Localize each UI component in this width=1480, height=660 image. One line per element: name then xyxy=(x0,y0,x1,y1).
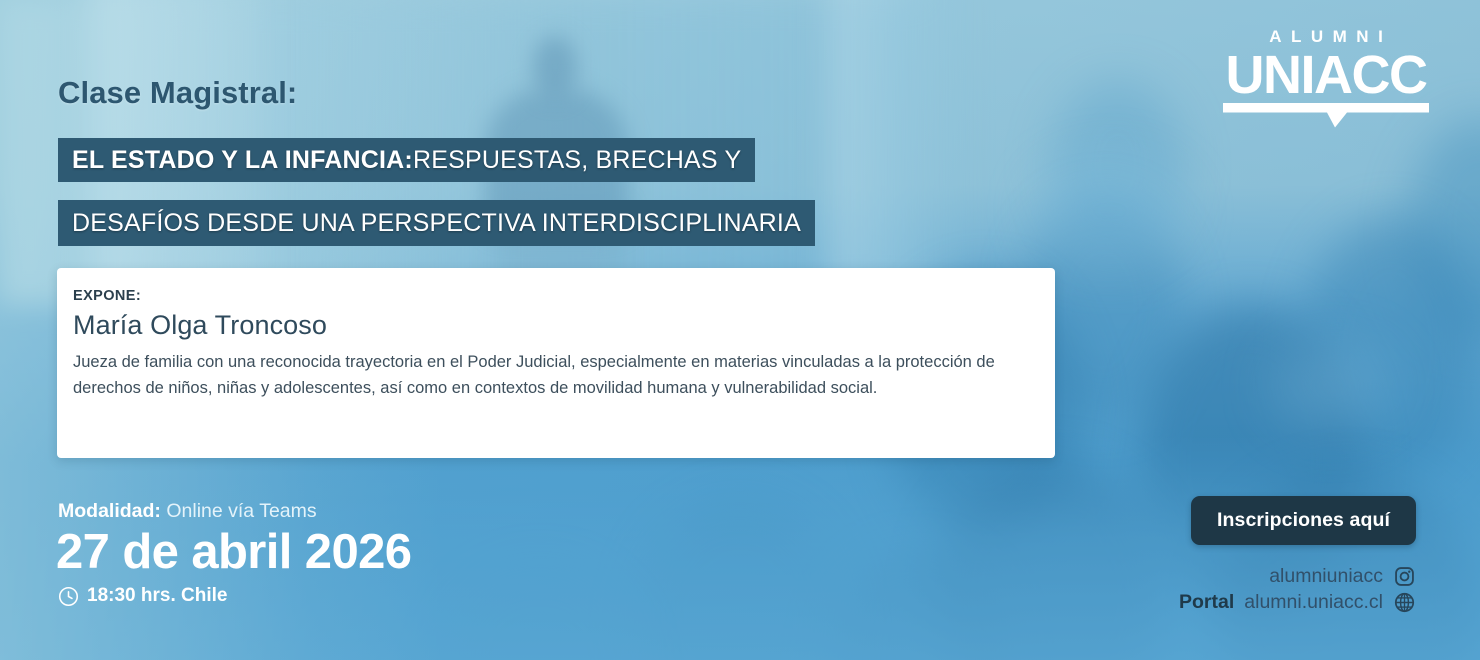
uniacc-alumni-logo: ALUMNI UNIACC xyxy=(1220,28,1432,128)
modality-label: Modalidad: xyxy=(58,500,161,522)
instagram-handle: alumniuniacc xyxy=(1269,565,1383,588)
modality-value: Online vía Teams xyxy=(166,500,316,522)
logo-alumni-text: ALUMNI xyxy=(1260,28,1393,45)
event-title-line-1-strong: EL ESTADO Y LA INFANCIA: xyxy=(72,146,413,175)
inscripciones-button[interactable]: Inscripciones aquí xyxy=(1191,496,1416,545)
event-kicker: Clase Magistral: xyxy=(58,75,297,111)
speaker-card: EXPONE: María Olga Troncoso Jueza de fam… xyxy=(57,268,1055,458)
modality-row: Modalidad: Online vía Teams xyxy=(58,500,317,523)
event-title-line-2-text: DESAFÍOS DESDE UNA PERSPECTIVA INTERDISC… xyxy=(72,209,801,238)
portal-url: alumni.uniacc.cl xyxy=(1244,591,1383,614)
speaker-bio: Jueza de familia con una reconocida tray… xyxy=(73,349,1023,401)
globe-icon[interactable] xyxy=(1393,591,1416,614)
banner-content: Clase Magistral: EL ESTADO Y LA INFANCIA… xyxy=(0,0,1480,660)
event-title-line-1: EL ESTADO Y LA INFANCIA: RESPUESTAS, BRE… xyxy=(58,138,755,182)
event-time-text: 18:30 hrs. Chile xyxy=(87,585,227,607)
event-title-line-1-rest: RESPUESTAS, BRECHAS Y xyxy=(413,146,741,175)
portal-label: Portal xyxy=(1179,591,1234,614)
instagram-icon[interactable] xyxy=(1393,565,1416,588)
social-links: alumniuniacc Portal alumni.uniacc.cl xyxy=(1179,565,1416,614)
social-row-instagram[interactable]: alumniuniacc xyxy=(1269,565,1416,588)
logo-uniacc-text: UNIACC xyxy=(1226,50,1427,101)
event-date: 27 de abril 2026 xyxy=(56,524,411,580)
event-banner: Clase Magistral: EL ESTADO Y LA INFANCIA… xyxy=(0,0,1480,660)
speech-bubble-underline-icon xyxy=(1223,103,1429,128)
clock-icon xyxy=(58,586,79,607)
speaker-card-label: EXPONE: xyxy=(73,288,1055,304)
speaker-name: María Olga Troncoso xyxy=(73,310,1055,341)
event-time-row: 18:30 hrs. Chile xyxy=(58,585,227,607)
social-row-portal[interactable]: Portal alumni.uniacc.cl xyxy=(1179,591,1416,614)
event-title-line-2: DESAFÍOS DESDE UNA PERSPECTIVA INTERDISC… xyxy=(58,200,815,246)
